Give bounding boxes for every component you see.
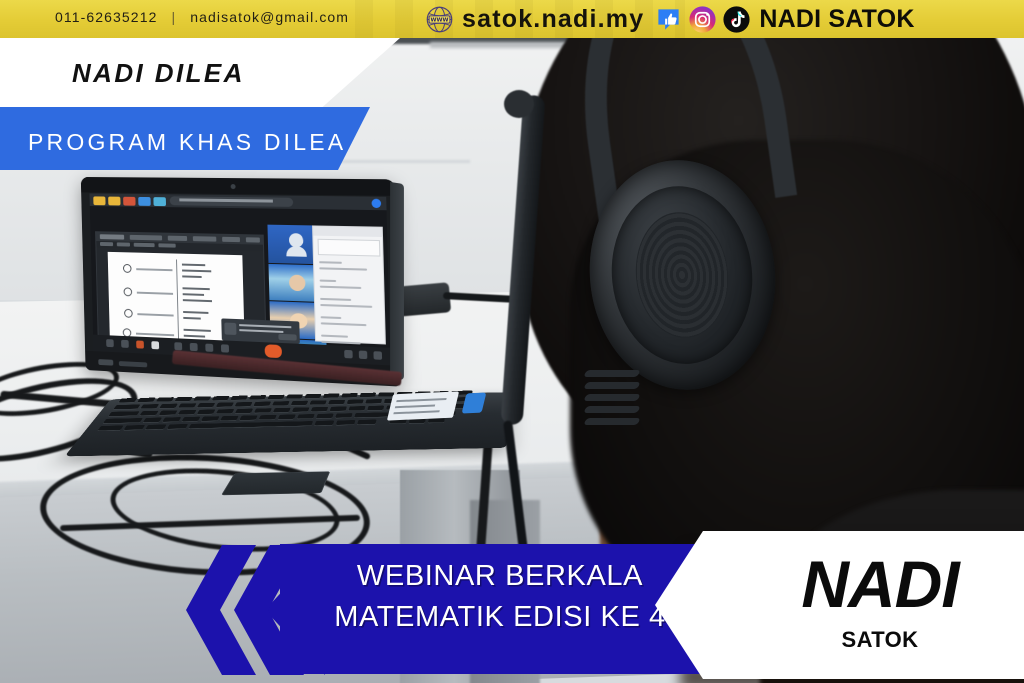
chat-message-box [318, 239, 381, 257]
contact-header-bar: 011-62635212 | nadisatok@gmail.com WWW s… [0, 0, 1024, 38]
email-address: nadisatok@gmail.com [190, 9, 349, 25]
contact-info: 011-62635212 | nadisatok@gmail.com [55, 9, 349, 25]
facebook-thumbs-up-icon[interactable] [655, 6, 682, 33]
phone-number: 011-62635212 [55, 9, 157, 25]
logo-satok-text: SATOK [755, 627, 1005, 653]
laptop-screen [89, 193, 390, 365]
chat-panel [312, 225, 386, 344]
logo-nadi-text: NADI [755, 551, 1005, 617]
participants-icon [174, 342, 182, 350]
header-links: WWW satok.nadi.my [425, 4, 1016, 35]
browser-tab [108, 196, 120, 205]
webinar-title-line1: WEBINAR BERKALA [300, 556, 700, 597]
program-khas-dilea-subtitle: PROGRAM KHAS DILEA [28, 129, 346, 156]
headset-mic-tip [504, 90, 534, 118]
webinar-title-block: WEBINAR BERKALA MATEMATIK EDISI KE 4 [300, 556, 700, 638]
brand-name-header: NADI SATOK [759, 5, 914, 34]
share-screen-icon [151, 341, 159, 349]
webcam-icon [231, 184, 236, 189]
reactions-icon [205, 344, 213, 352]
browser-tab [93, 196, 105, 205]
svg-text:WWW: WWW [431, 17, 449, 23]
laptop-lid-side [390, 182, 404, 380]
chat-icon [190, 343, 198, 351]
laptop-trackpad [221, 471, 330, 495]
headset-ridges [585, 370, 647, 450]
leave-meeting-button [265, 344, 282, 358]
nadi-satok-logo-block: NADI SATOK [655, 531, 1024, 679]
browser-tab [138, 196, 151, 205]
fullscreen-icon [359, 351, 368, 360]
contact-separator: | [171, 9, 176, 25]
laptop-brand-text [119, 361, 147, 367]
camera-icon [121, 340, 129, 348]
mic-icon [106, 339, 114, 347]
more-options-icon [221, 344, 229, 352]
notification-action-button [278, 334, 296, 341]
chat-panel-header [313, 226, 382, 237]
view-layout-icon [344, 350, 353, 359]
notification-icon [224, 323, 236, 335]
website-url[interactable]: satok.nadi.my [462, 5, 644, 34]
browser-profile-avatar [371, 199, 381, 208]
globe-www-icon: WWW [425, 5, 454, 34]
laptop-lid [81, 177, 401, 387]
laptop-brand-logo [98, 359, 113, 366]
nadi-dilea-title: NADI DILEA [72, 58, 245, 89]
tiktok-icon[interactable] [723, 6, 750, 33]
record-icon [136, 340, 144, 348]
browser-tab [123, 196, 135, 205]
browser-tab [153, 197, 166, 206]
webinar-title-line2: MATEMATIK EDISI KE 4 [300, 597, 700, 638]
laptop [60, 178, 490, 478]
settings-icon [373, 351, 382, 360]
video-meeting-app [90, 206, 391, 365]
instagram-icon[interactable] [689, 6, 716, 33]
poster-canvas: 011-62635212 | nadisatok@gmail.com WWW s… [0, 0, 1024, 683]
